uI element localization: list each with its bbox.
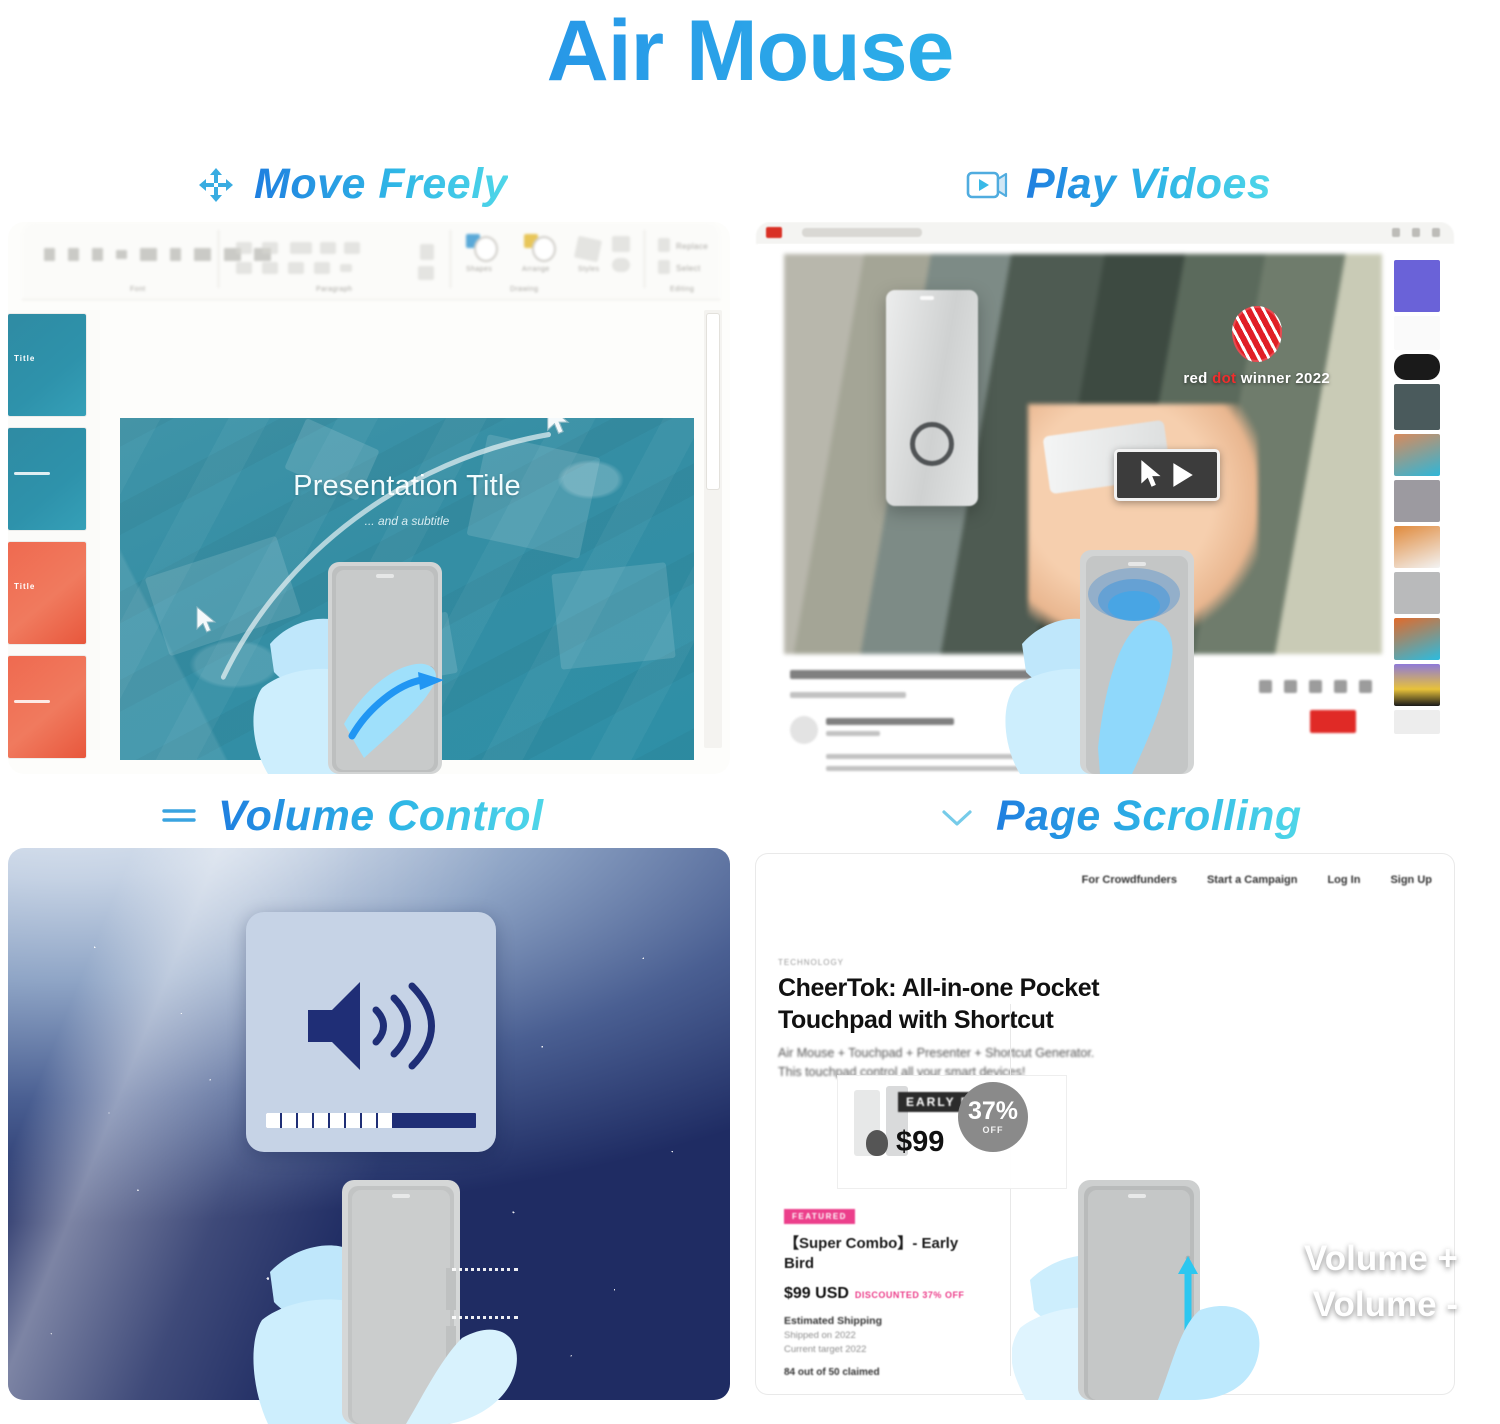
channel-name-text	[826, 718, 954, 725]
perk-shipping-line: Shipped on 2022	[784, 1330, 990, 1341]
ribbon-arrange-label: Arrange	[522, 266, 550, 273]
slide-thumbnail[interactable]	[8, 656, 86, 758]
video-player[interactable]	[784, 254, 1382, 654]
editor-scrollbar[interactable]	[704, 310, 722, 748]
suggested-video-thumbnail[interactable]	[1394, 618, 1440, 660]
perk-price-value: $99 USD	[784, 1285, 849, 1302]
character-spacing-button[interactable]	[140, 248, 157, 261]
campaign-category-eyebrow: TECHNOLOGY	[778, 958, 844, 967]
volume-segment	[330, 1113, 344, 1128]
suggested-video-thumbnail[interactable]	[1394, 572, 1440, 614]
video-metadata-section	[784, 662, 1382, 758]
suggested-video-thumbnail[interactable]	[1394, 434, 1440, 476]
chevron-down-icon	[936, 800, 978, 834]
mouse-pointer-icon	[195, 606, 219, 636]
strikethrough-button[interactable]	[116, 250, 127, 259]
section-heading-volume-control: Volume Control	[158, 792, 544, 841]
nav-item-log-in[interactable]: Log In	[1327, 874, 1360, 886]
volume-segment	[298, 1113, 312, 1128]
volume-segment	[282, 1113, 296, 1128]
underline-button[interactable]	[92, 248, 103, 261]
volume-button-labels: Volume + Volume -	[1304, 1236, 1458, 1328]
site-favicon-icon	[766, 227, 782, 238]
channel-avatar[interactable]	[790, 716, 818, 744]
product-accessory-icon	[866, 1130, 888, 1156]
ribbon-group-drawing: Drawing	[510, 286, 538, 293]
perk-shipping-line: Current target 2022	[784, 1344, 990, 1355]
browser-tab-bar[interactable]	[756, 222, 1454, 244]
video-title-text	[790, 670, 1080, 679]
suggested-video-thumbnail[interactable]	[1394, 664, 1440, 706]
suggested-videos-rail[interactable]	[1386, 254, 1450, 752]
video-play-icon	[966, 168, 1008, 202]
ribbon-replace-label: Replace	[676, 242, 708, 251]
active-slide[interactable]: Presentation Title ... and a subtitle	[120, 418, 694, 760]
volume-level-bar[interactable]	[266, 1113, 476, 1128]
ribbon-group-font: Font	[130, 286, 146, 293]
discount-percent: 37%	[968, 1099, 1018, 1124]
dislike-icon[interactable]	[1284, 680, 1297, 693]
move-arrows-icon	[196, 165, 236, 205]
subscriber-count-text	[826, 731, 880, 736]
section-heading-label: Play Vidoes	[1026, 160, 1271, 209]
video-watch-page: red dot winner 2022	[758, 244, 1454, 762]
volume-osd	[246, 912, 496, 1152]
section-heading-label: Volume Control	[218, 792, 544, 841]
minimize-button[interactable]	[1392, 228, 1400, 237]
discount-off-label: OFF	[983, 1126, 1004, 1135]
slide-canvas[interactable]: Presentation Title ... and a subtitle	[112, 310, 696, 726]
volume-up-label: Volume +	[1304, 1236, 1458, 1282]
suggested-video-thumbnail[interactable]	[1394, 316, 1440, 350]
featured-badge: FEATURED	[784, 1209, 855, 1224]
volume-segment	[314, 1113, 328, 1128]
slide-thumbnail-panel[interactable]: Title Title	[8, 310, 100, 750]
leader-line-volume-down	[452, 1316, 518, 1319]
section-heading-play-videos: Play Vidoes	[966, 160, 1271, 209]
page-title: Air Mouse	[0, 2, 1500, 101]
volume-down-label: Volume -	[1304, 1282, 1458, 1328]
speaker-waves-icon	[298, 974, 448, 1078]
section-heading-label: Move Freely	[254, 160, 508, 209]
maximize-button[interactable]	[1412, 228, 1420, 237]
volume-segment	[378, 1113, 392, 1128]
italic-button[interactable]	[68, 248, 79, 261]
hamburger-lines-icon	[158, 800, 200, 834]
site-navigation[interactable]: For Crowdfunders Start a Campaign Log In…	[1082, 874, 1432, 886]
suggested-video-thumbnail[interactable]	[1394, 384, 1440, 430]
volume-segment	[362, 1113, 376, 1128]
cast-badge-icon[interactable]	[1394, 354, 1440, 380]
mouse-pointer-icon	[545, 418, 573, 438]
ribbon-group-editing: Editing	[670, 286, 694, 293]
leader-line-volume-up	[452, 1268, 518, 1271]
perk-backers-count: 84 out of 50 claimed	[784, 1367, 990, 1378]
video-action-icons[interactable]	[1259, 680, 1372, 693]
panel-play-videos: red dot winner 2022	[742, 222, 1466, 774]
subscribe-button[interactable]	[1310, 710, 1356, 733]
suggested-video-thumbnail[interactable]	[1394, 260, 1440, 312]
perk-price: $99 USDDISCOUNTED 37% OFF	[784, 1285, 990, 1303]
campaign-title: CheerTok: All-in-one Pocket Touchpad wit…	[778, 972, 1108, 1036]
ribbon-group-paragraph: Paragraph	[316, 286, 352, 293]
mouse-movement-trail	[120, 418, 694, 760]
bold-button[interactable]	[44, 248, 55, 261]
perk-card[interactable]: FEATURED 【Super Combo】- Early Bird $99 U…	[784, 1206, 990, 1378]
volume-segment	[266, 1113, 280, 1128]
address-bar[interactable]	[802, 228, 922, 237]
content-divider	[1010, 1004, 1011, 1376]
panel-move-freely: Shapes Arrange Styles Replace Select Fon…	[8, 222, 730, 774]
section-heading-move-freely: Move Freely	[196, 160, 508, 209]
like-icon[interactable]	[1259, 680, 1272, 693]
ribbon-styles-label: Styles	[578, 266, 599, 273]
video-site-window: red dot winner 2022	[742, 222, 1466, 774]
suggested-video-thumbnail[interactable]	[1394, 710, 1440, 734]
save-icon[interactable]	[1334, 680, 1347, 693]
ribbon-select-label: Select	[676, 264, 701, 273]
section-heading-label: Page Scrolling	[996, 792, 1302, 841]
headline-price: $99	[896, 1126, 944, 1159]
share-icon[interactable]	[1309, 680, 1322, 693]
perk-title: 【Super Combo】- Early Bird	[784, 1234, 990, 1275]
close-button[interactable]	[1432, 228, 1440, 237]
ribbon-toolbar[interactable]: Shapes Arrange Styles Replace Select Fon…	[22, 222, 720, 300]
suggested-video-thumbnail[interactable]	[1394, 480, 1440, 522]
slide-thumbnail[interactable]: Title	[8, 314, 86, 416]
ribbon-shapes-label: Shapes	[466, 266, 492, 273]
nav-item-start-a-campaign[interactable]: Start a Campaign	[1207, 874, 1297, 886]
volume-segment	[346, 1113, 360, 1128]
slide-thumbnail[interactable]	[8, 428, 86, 530]
nav-item-for-crowdfunders[interactable]: For Crowdfunders	[1082, 874, 1177, 886]
description-line	[826, 766, 1056, 771]
slide-thumbnail[interactable]: Title	[8, 542, 86, 644]
presentation-app-window: Shapes Arrange Styles Replace Select Fon…	[8, 222, 730, 774]
description-line	[826, 754, 1074, 759]
nav-item-sign-up[interactable]: Sign Up	[1390, 874, 1432, 886]
infographic-page: Air Mouse Move Freely Play Vidoes	[0, 0, 1500, 1424]
video-view-count	[790, 692, 906, 698]
change-case-button[interactable]	[170, 248, 181, 261]
discount-badge: 37% OFF	[958, 1082, 1028, 1152]
perk-discount-note: DISCOUNTED 37% OFF	[855, 1290, 965, 1300]
suggested-video-thumbnail[interactable]	[1394, 526, 1440, 568]
section-heading-page-scrolling: Page Scrolling	[936, 792, 1302, 841]
clear-formatting-button[interactable]	[194, 248, 211, 261]
more-icon[interactable]	[1359, 680, 1372, 693]
perk-shipping-label: Estimated Shipping	[784, 1315, 990, 1327]
